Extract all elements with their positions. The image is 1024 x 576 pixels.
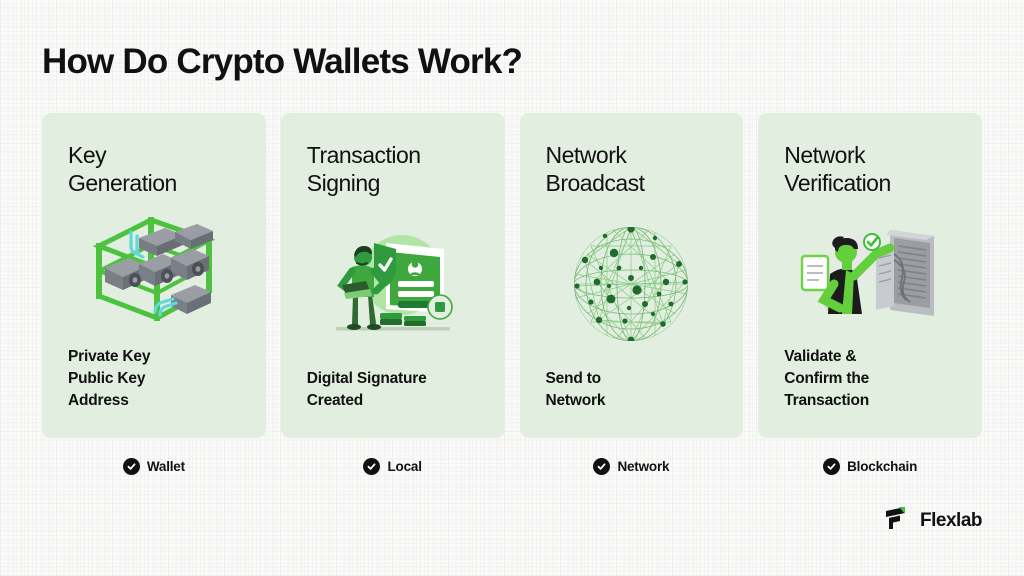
step-heading: Transaction Signing — [307, 141, 479, 197]
step-card-key-generation[interactable]: Key Generation — [42, 113, 266, 438]
step-description: Digital Signature Created — [307, 368, 479, 438]
badge-label: Network — [617, 459, 669, 474]
check-circle-icon — [123, 458, 140, 475]
brand-logo[interactable]: Flexlab — [883, 505, 982, 536]
step-card-transaction-signing[interactable]: Transaction Signing — [281, 113, 505, 438]
badge-label: Local — [387, 459, 421, 474]
steps-card-row: Key Generation — [42, 113, 982, 438]
infographic-canvas: How Do Crypto Wallets Work? Key Generati… — [0, 0, 1024, 576]
badge-network[interactable]: Network — [520, 452, 744, 480]
network-sphere-icon — [546, 197, 718, 368]
step-card-network-broadcast[interactable]: Network Broadcast Send to Network — [520, 113, 744, 438]
step-description: Private Key Public Key Address — [68, 346, 240, 438]
person-signing-icon — [307, 197, 479, 368]
flexlab-f-mark-icon — [883, 505, 911, 536]
step-heading: Network Broadcast — [546, 141, 718, 197]
badge-wallet[interactable]: Wallet — [42, 452, 266, 480]
badge-label: Wallet — [147, 459, 185, 474]
server-verification-icon — [784, 197, 956, 346]
step-card-network-verification[interactable]: Network Verification — [758, 113, 982, 438]
badge-label: Blockchain — [847, 459, 917, 474]
step-heading: Network Verification — [784, 141, 956, 197]
mining-rig-icon — [68, 197, 240, 346]
check-circle-icon — [593, 458, 610, 475]
step-heading: Key Generation — [68, 141, 240, 197]
badge-local[interactable]: Local — [281, 452, 505, 480]
brand-name: Flexlab — [920, 510, 982, 532]
step-badges-row: Wallet Local Network Blockchain — [42, 452, 982, 480]
step-description: Validate & Confirm the Transaction — [784, 346, 956, 438]
page-title: How Do Crypto Wallets Work? — [42, 42, 522, 82]
badge-blockchain[interactable]: Blockchain — [758, 452, 982, 480]
step-description: Send to Network — [546, 368, 718, 438]
check-circle-icon — [823, 458, 840, 475]
check-circle-icon — [363, 458, 380, 475]
